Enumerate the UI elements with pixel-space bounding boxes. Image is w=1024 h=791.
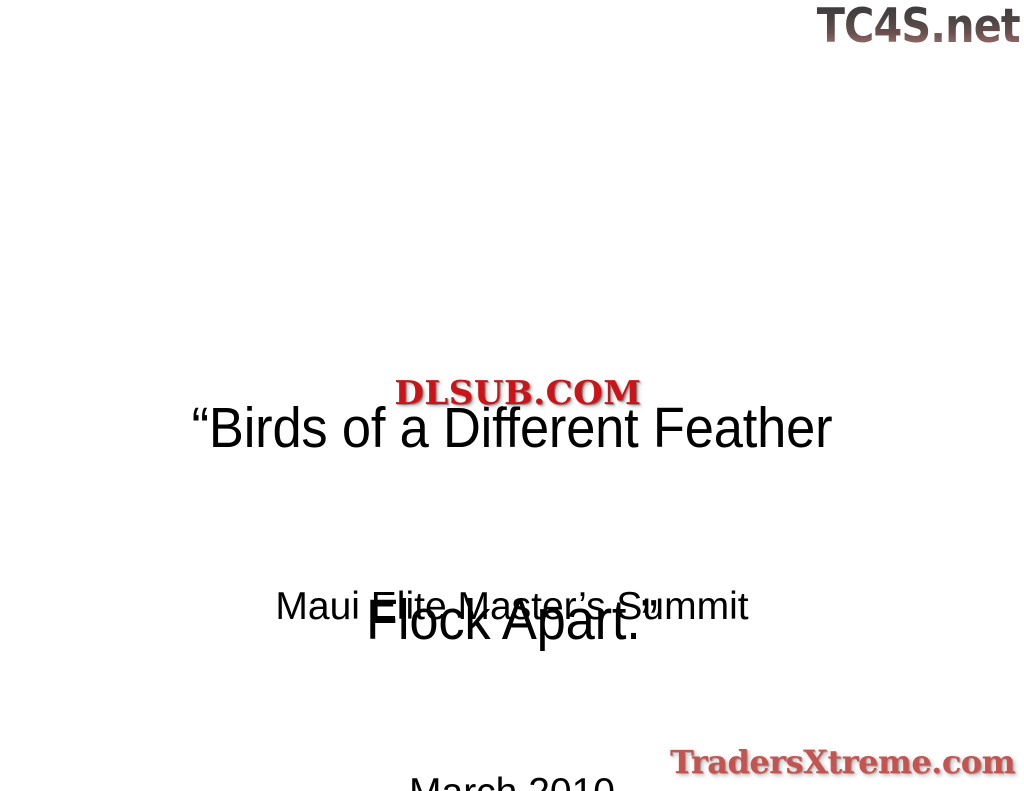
watermark-dlsub-com-text: DLSUB.COM	[394, 373, 641, 412]
slide-subtitle-line-1: Maui Elite Master’s Summit	[0, 576, 1024, 638]
watermark-tc4s-net: TC4S.net	[817, 2, 1020, 52]
slide-canvas: TC4S.net “Birds of a Different Feather F…	[0, 0, 1024, 791]
watermark-tradersxtreme-com: TradersXtreme.com	[670, 741, 1015, 783]
watermark-dlsub-com: DLSUB.COM	[366, 370, 670, 414]
watermark-tradersxtreme-com-text: TradersXtreme.com	[670, 743, 1015, 781]
